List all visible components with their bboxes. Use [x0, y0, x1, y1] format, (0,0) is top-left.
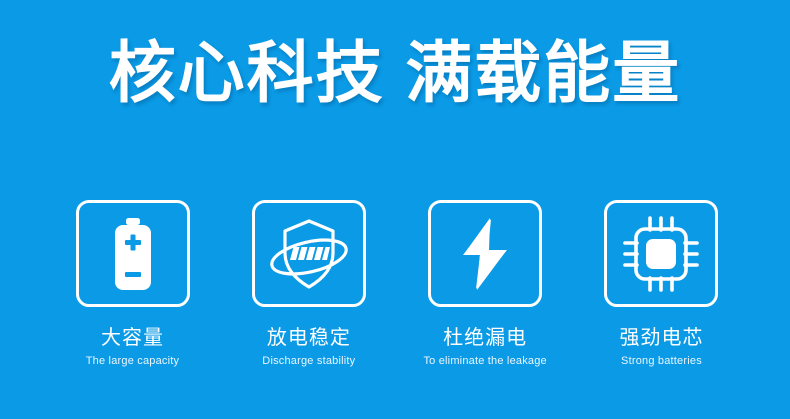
feature-item-strong-batteries[interactable]: 强劲电芯 Strong batteries [589, 200, 734, 367]
battery-icon [111, 218, 155, 290]
feature-title-en: Strong batteries [621, 355, 702, 367]
page-title: 核心科技 满载能量 [109, 38, 682, 110]
cpu-chip-icon [623, 216, 699, 292]
headline-container: 核心科技 满载能量 [0, 38, 790, 110]
feature-title-cn: 放电稳定 [267, 327, 351, 349]
lightning-bolt-icon [460, 218, 510, 290]
promo-banner: 核心科技 满载能量 大容量 The large capacity [0, 0, 790, 419]
feature-title-en: To eliminate the leakage [423, 355, 546, 367]
feature-title-cn: 强劲电芯 [619, 327, 703, 349]
feature-item-large-capacity[interactable]: 大容量 The large capacity [60, 200, 205, 367]
feature-item-discharge-stability[interactable]: 放电稳定 Discharge stability [236, 200, 381, 367]
feature-title-en: The large capacity [86, 355, 179, 367]
feature-title-en: Discharge stability [262, 355, 355, 367]
feature-title-cn: 大容量 [101, 327, 164, 349]
icon-frame [252, 200, 366, 307]
feature-list: 大容量 The large capacity [60, 200, 734, 367]
feature-title-cn: 杜绝漏电 [443, 327, 527, 349]
icon-frame [428, 200, 542, 307]
feature-item-no-leakage[interactable]: 杜绝漏电 To eliminate the leakage [413, 200, 558, 367]
icon-frame [76, 200, 190, 307]
shield-orbit-icon [268, 217, 350, 291]
icon-frame [604, 200, 718, 307]
